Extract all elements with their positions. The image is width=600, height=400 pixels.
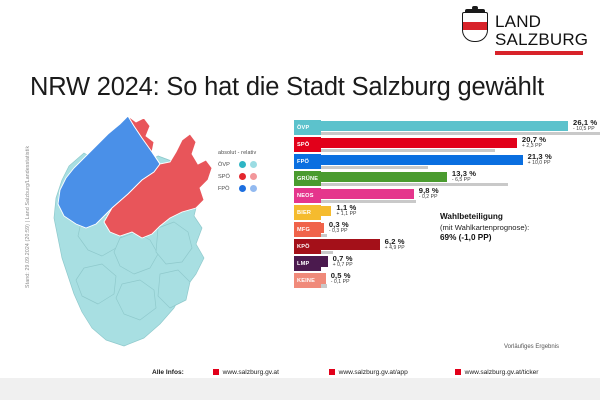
legend-dot-absolute — [239, 185, 246, 192]
previous-result-bar — [321, 149, 495, 152]
previous-result-bar — [321, 251, 333, 254]
previous-result-bar — [321, 166, 428, 169]
bar-track: 9,8 %- 0,2 PP — [321, 188, 586, 203]
result-bar — [321, 273, 326, 284]
bar-value-group: 0,3 %- 0,3 PP — [329, 221, 349, 234]
salzburg-coat-of-arms-icon — [462, 12, 488, 46]
bar-track: 13,3 %- 6,5 PP — [321, 171, 586, 186]
legend-item: SPÖ — [218, 173, 290, 180]
footer-link-text: www.salzburg.gv.at/ticker — [465, 369, 539, 376]
bar-track: 20,7 %+ 2,3 PP — [321, 137, 586, 152]
party-label: KEINE — [294, 273, 321, 288]
preliminary-note: Vorläufiges Ergebnis — [504, 344, 559, 350]
party-label: MFG — [294, 222, 321, 237]
land-salzburg-logo: LAND SALZBURG — [462, 12, 590, 58]
chart-row: FPÖ21,3 %+ 10,0 PP — [294, 154, 586, 169]
party-label: ÖVP — [294, 120, 321, 135]
chart-row: NEOS9,8 %- 0,2 PP — [294, 188, 586, 203]
infographic-page: LAND SALZBURG NRW 2024: So hat die Stadt… — [0, 0, 600, 400]
result-change: - 0,2 PP — [419, 195, 439, 200]
previous-result-bar — [321, 234, 327, 237]
party-label: LMP — [294, 256, 321, 271]
party-label: NEOS — [294, 188, 321, 203]
result-change: + 0,7 PP — [333, 263, 353, 268]
turnout-title: Wahlbeteiligung — [440, 212, 590, 223]
chart-row: GRÜNE13,3 %- 6,5 PP — [294, 171, 586, 186]
result-change: - 0,1 PP — [331, 280, 351, 285]
previous-result-bar — [321, 284, 327, 287]
result-bar — [321, 239, 380, 250]
page-title: NRW 2024: So hat die Stadt Salzburg gewä… — [30, 73, 580, 102]
chart-row: ÖVP26,1 %- 10,5 PP — [294, 120, 586, 135]
footer-links: Alle Infos: www.salzburg.gv.at www.salzb… — [0, 364, 600, 380]
bar-value-group: 20,7 %+ 2,3 PP — [522, 136, 546, 149]
result-bar — [321, 172, 447, 183]
result-bar — [321, 138, 517, 149]
footer-link-website[interactable]: www.salzburg.gv.at — [213, 369, 279, 376]
legend-label: SPÖ — [218, 174, 235, 180]
party-label: BIER — [294, 205, 321, 220]
turnout-block: Wahlbeteiligung (mit Wahlkartenprognose)… — [440, 212, 590, 244]
previous-result-bar — [321, 183, 508, 186]
legend-dot-relative — [250, 173, 257, 180]
footer-link-app[interactable]: www.salzburg.gv.at/app — [329, 369, 408, 376]
footer-label: Alle Infos: — [152, 369, 184, 376]
bar-value-group: 0,5 %- 0,1 PP — [331, 272, 351, 285]
party-label: SPÖ — [294, 137, 321, 152]
bar-track: 0,5 %- 0,1 PP — [321, 273, 586, 288]
bar-value-group: 26,1 %- 10,5 PP — [573, 119, 597, 132]
chart-row: SPÖ20,7 %+ 2,3 PP — [294, 137, 586, 152]
map-legend: absolut - relativ ÖVP SPÖ FPÖ — [218, 150, 290, 197]
bar-value-group: 9,8 %- 0,2 PP — [419, 187, 439, 200]
bar-value-group: 21,3 %+ 10,0 PP — [528, 153, 552, 166]
result-bar — [321, 121, 568, 132]
bar-value-group: 13,3 %- 6,5 PP — [452, 170, 476, 183]
result-bar — [321, 206, 331, 217]
footer-link-ticker[interactable]: www.salzburg.gv.at/ticker — [455, 369, 539, 376]
legend-label: ÖVP — [218, 162, 235, 168]
legend-dot-relative — [250, 185, 257, 192]
party-results-chart: ÖVP26,1 %- 10,5 PPSPÖ20,7 %+ 2,3 PPFPÖ21… — [294, 120, 586, 290]
legend-item: FPÖ — [218, 185, 290, 192]
logo-line-2: SALZBURG — [495, 31, 588, 48]
turnout-subtitle: (mit Wahlkartenprognose): — [440, 223, 590, 233]
bar-track: 26,1 %- 10,5 PP — [321, 120, 586, 135]
footer-link-text: www.salzburg.gv.at — [223, 369, 279, 376]
bar-value-group: 1,1 %+ 1,1 PP — [336, 204, 356, 217]
logo-underline — [495, 51, 583, 55]
legend-dot-relative — [250, 161, 257, 168]
result-bar — [321, 189, 414, 200]
legend-label: FPÖ — [218, 186, 235, 192]
bar-value-group: 6,2 %+ 4,9 PP — [385, 238, 405, 251]
party-label: KPÖ — [294, 239, 321, 254]
footer-link-text: www.salzburg.gv.at/app — [339, 369, 408, 376]
result-change: + 1,1 PP — [336, 212, 356, 217]
result-change: + 2,3 PP — [522, 144, 546, 149]
result-change: + 4,9 PP — [385, 246, 405, 251]
turnout-value: 69% (-1,0 PP) — [440, 233, 590, 244]
result-change: - 10,5 PP — [573, 127, 597, 132]
legend-dot-absolute — [239, 173, 246, 180]
party-label: FPÖ — [294, 154, 321, 169]
bar-track: 21,3 %+ 10,0 PP — [321, 154, 586, 169]
chart-row: KEINE0,5 %- 0,1 PP — [294, 273, 586, 288]
bullet-square-icon — [213, 369, 219, 375]
legend-item: ÖVP — [218, 161, 290, 168]
salzburg-district-map — [24, 108, 234, 353]
legend-dot-absolute — [239, 161, 246, 168]
previous-result-bar — [321, 132, 600, 135]
previous-result-bar — [321, 200, 416, 203]
result-bar — [321, 223, 324, 234]
chart-row: LMP0,7 %+ 0,7 PP — [294, 256, 586, 271]
bar-track: 0,7 %+ 0,7 PP — [321, 256, 586, 271]
bullet-square-icon — [455, 369, 461, 375]
footer-bar — [0, 378, 600, 400]
result-bar — [321, 155, 523, 166]
logo-line-1: LAND — [495, 13, 588, 30]
legend-header: absolut - relativ — [218, 150, 290, 156]
bar-value-group: 0,7 %+ 0,7 PP — [333, 255, 353, 268]
bullet-square-icon — [329, 369, 335, 375]
result-bar — [321, 256, 328, 267]
result-change: - 0,3 PP — [329, 229, 349, 234]
result-change: - 6,5 PP — [452, 178, 476, 183]
result-change: + 10,0 PP — [528, 161, 552, 166]
party-label: GRÜNE — [294, 171, 321, 186]
